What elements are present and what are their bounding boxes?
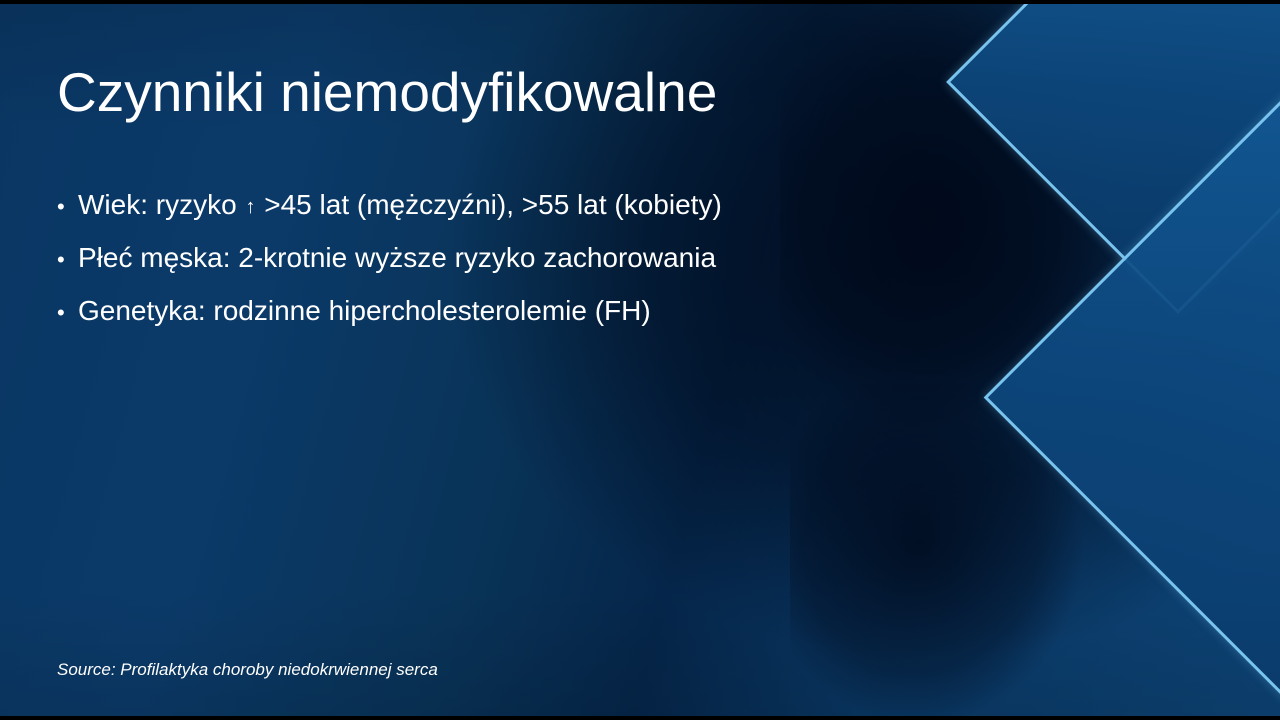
list-item: • Płeć męska: 2-krotnie wyższe ryzyko za… — [57, 241, 887, 274]
bullet-list: • Wiek: ryzyko ↑ >45 lat (mężczyźni), >5… — [57, 188, 887, 347]
bullet-text: Płeć męska: 2-krotnie wyższe ryzyko zach… — [78, 241, 716, 274]
source-caption: Source: Profilaktyka choroby niedokrwien… — [57, 660, 438, 680]
list-item: • Genetyka: rodzinne hipercholesterolemi… — [57, 294, 887, 327]
bullet-point-icon: • — [57, 249, 78, 271]
bullet-text: Wiek: ryzyko ↑ >45 lat (mężczyźni), >55 … — [78, 188, 722, 221]
bullet-text: Genetyka: rodzinne hipercholesterolemie … — [78, 294, 651, 327]
slide-content: Czynniki niemodyfikowalne • Wiek: ryzyko… — [0, 4, 1280, 716]
bullet-point-icon: • — [57, 196, 78, 218]
bullet-point-icon: • — [57, 302, 78, 324]
slide-canvas: Czynniki niemodyfikowalne • Wiek: ryzyko… — [0, 4, 1280, 716]
bullet-text-after-arrow: >45 lat (mężczyźni), >55 lat (kobiety) — [256, 189, 721, 220]
bullet-text-before-arrow: Wiek: ryzyko — [78, 189, 244, 220]
slide-title: Czynniki niemodyfikowalne — [57, 62, 857, 124]
slide-root: Czynniki niemodyfikowalne • Wiek: ryzyko… — [0, 0, 1280, 720]
up-arrow-icon: ↑ — [244, 196, 256, 218]
list-item: • Wiek: ryzyko ↑ >45 lat (mężczyźni), >5… — [57, 188, 887, 221]
